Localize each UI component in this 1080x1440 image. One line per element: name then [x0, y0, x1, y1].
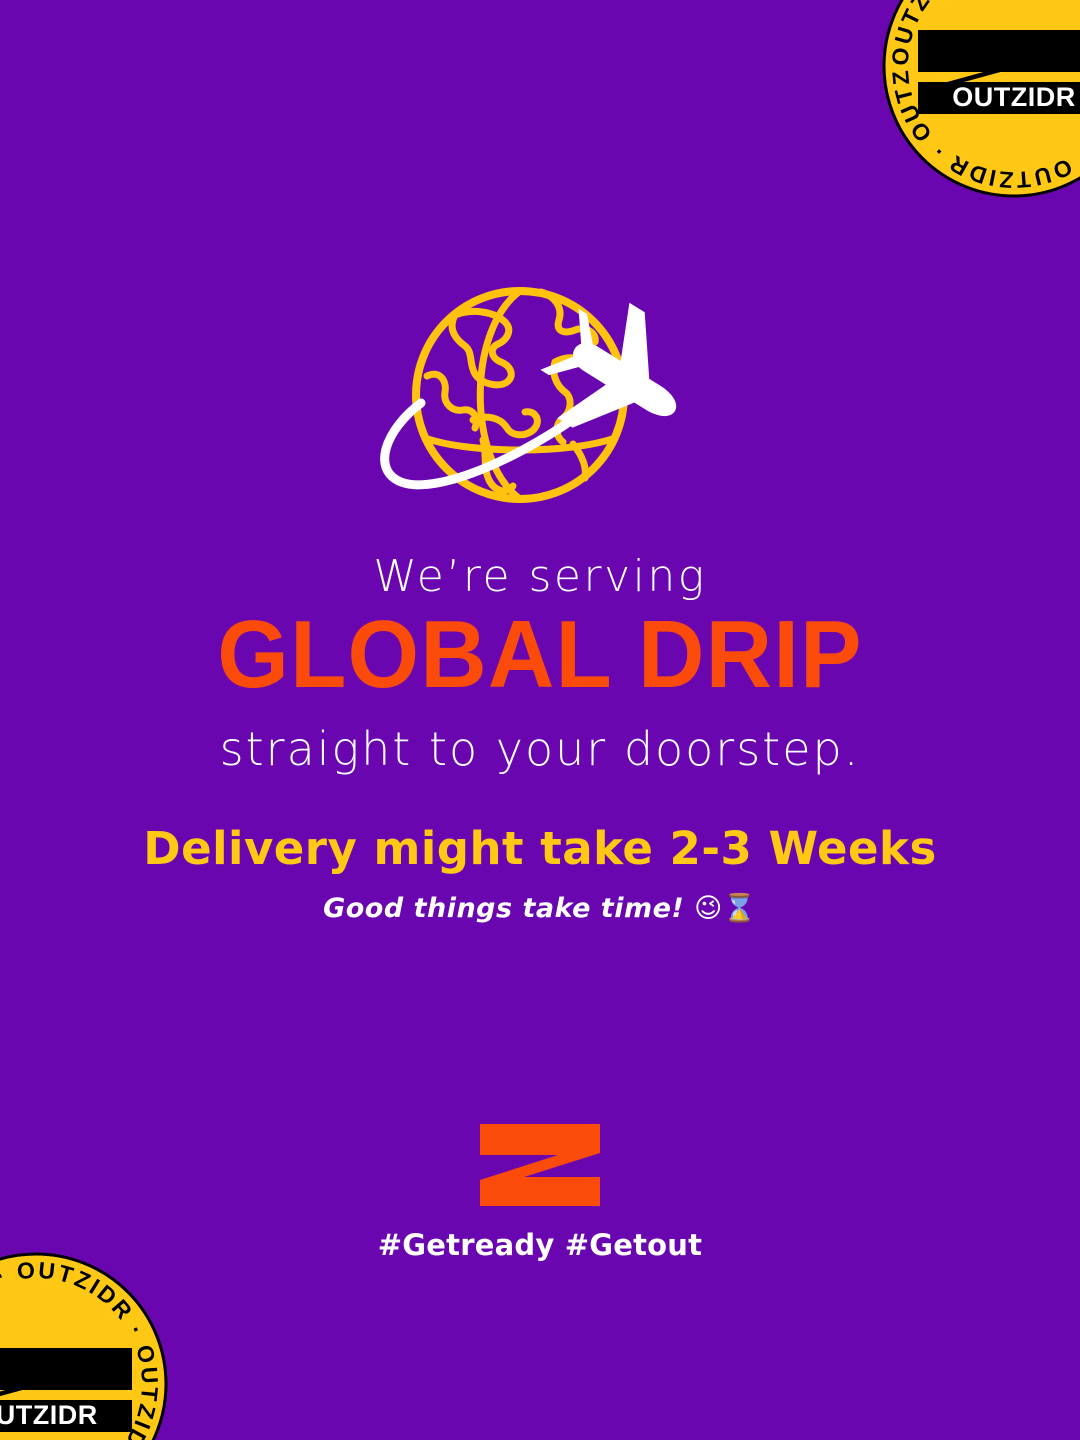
post-headline-text: straight to your doorstep. [0, 723, 1080, 776]
stamp-wordmark-tr: OUTZIDR [952, 82, 1075, 112]
wink-hourglass-emoji: 😉⌛ [694, 893, 757, 924]
stamp-center-logo-bl: OUTZIDR [0, 1348, 132, 1432]
page-title: GLOBAL DRIP [0, 606, 1080, 701]
headline-copy-block: We’re serving GLOBAL DRIP straight to yo… [0, 552, 1080, 775]
outzidr-z-logo-icon [478, 1122, 602, 1208]
delivery-subnote: Good things take time! 😉⌛ [0, 892, 1080, 924]
stamp-wordmark-bl: OUTZIDR [0, 1400, 98, 1430]
globe-with-airplane-icon [355, 270, 715, 520]
promo-poster: We’re serving GLOBAL DRIP straight to yo… [0, 0, 1080, 1440]
delivery-time-text: Delivery might take 2-3 Weeks [0, 822, 1080, 876]
outzidr-stamp-bottom-left: OUTZIDR · OUTZIDR · OUTZIDR · OUTZIDR · … [0, 1250, 170, 1440]
pre-headline-text: We’re serving [0, 552, 1080, 603]
outzidr-stamp-top-right: OUTZIDR · OUTZIDR · OUTZIDR · OUTZIDR · … [880, 0, 1080, 200]
delivery-subnote-text: Good things take time! [323, 893, 684, 924]
footer-brand-block: #Getready #Getout [0, 1122, 1080, 1262]
delivery-note-block: Delivery might take 2-3 Weeks Good thing… [0, 822, 1080, 924]
stamp-center-logo-tr: OUTZIDR [918, 30, 1080, 114]
